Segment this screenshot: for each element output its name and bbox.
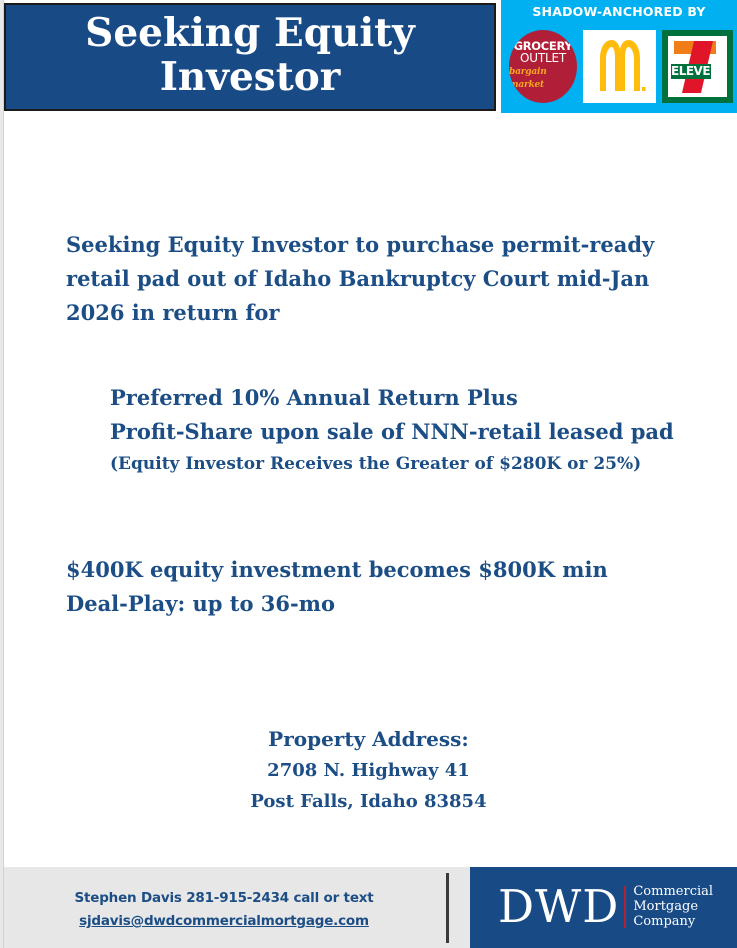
- terms-block: Preferred 10% Annual Return Plus Profit-…: [110, 381, 710, 479]
- anchor-tenants-panel: SHADOW-ANCHORED BY GROCERY OUTLET bargai…: [501, 0, 737, 113]
- dwd-wordmark: DWD: [498, 884, 619, 929]
- property-address-line-2: Post Falls, Idaho 83854: [0, 786, 737, 817]
- anchor-logo-row: GROCERY OUTLET bargain market ELEVEN: [505, 26, 737, 106]
- deal-block: $400K equity investment becomes $800K mi…: [66, 553, 706, 621]
- title-banner: Seeking Equity Investor: [4, 3, 496, 111]
- anchor-tenants-label: SHADOW-ANCHORED BY: [501, 4, 737, 19]
- term-line-profit-share: Profit-Share upon sale of NNN-retail lea…: [110, 415, 710, 449]
- seven-eleven-logo: ELEVEN: [662, 30, 733, 103]
- grocery-outlet-line3: bargain market: [509, 66, 577, 91]
- property-address-heading: Property Address:: [0, 723, 737, 755]
- contact-name-phone: Stephen Davis 281-915-2434 call or text: [4, 887, 444, 910]
- dwd-descriptor-line-1: Commercial: [633, 884, 713, 899]
- title-line-2: Investor: [85, 56, 415, 100]
- footer-contact-block: Stephen Davis 281-915-2434 call or text …: [4, 887, 444, 933]
- footer-bar: Stephen Davis 281-915-2434 call or text …: [4, 867, 737, 948]
- dwd-descriptor-line-2: Mortgage: [633, 899, 713, 914]
- golden-arches-icon: [591, 37, 649, 95]
- footer-divider: [446, 873, 449, 943]
- term-note-greater-of: (Equity Investor Receives the Greater of…: [110, 449, 710, 479]
- mcdonalds-logo: [583, 30, 656, 103]
- lead-paragraph: Seeking Equity Investor to purchase perm…: [66, 228, 706, 330]
- dwd-descriptor: Commercial Mortgage Company: [633, 884, 713, 929]
- seven-eleven-wordmark: ELEVEN: [671, 64, 711, 79]
- dwd-logo: DWD Commercial Mortgage Company: [498, 884, 713, 929]
- term-line-preferred-return: Preferred 10% Annual Return Plus: [110, 381, 710, 415]
- deal-line-term: Deal-Play: up to 36-mo: [66, 587, 706, 621]
- grocery-outlet-line2: OUTLET: [520, 52, 566, 66]
- contact-email-link[interactable]: sjdavis@dwdcommercialmortgage.com: [4, 910, 444, 933]
- dwd-brand-block: DWD Commercial Mortgage Company: [470, 867, 737, 948]
- seven-eleven-inner: ELEVEN: [668, 36, 727, 97]
- dwd-descriptor-line-3: Company: [633, 914, 713, 929]
- deal-line-investment: $400K equity investment becomes $800K mi…: [66, 553, 706, 587]
- title-line-1: Seeking Equity: [85, 12, 415, 56]
- dwd-rule: [624, 886, 626, 928]
- page-title: Seeking Equity Investor: [85, 12, 415, 101]
- flyer-page: Seeking Equity Investor SHADOW-ANCHORED …: [0, 0, 737, 948]
- grocery-outlet-logo: GROCERY OUTLET bargain market: [509, 30, 577, 103]
- property-address-block: Property Address: 2708 N. Highway 41 Pos…: [0, 723, 737, 817]
- property-address-line-1: 2708 N. Highway 41: [0, 755, 737, 786]
